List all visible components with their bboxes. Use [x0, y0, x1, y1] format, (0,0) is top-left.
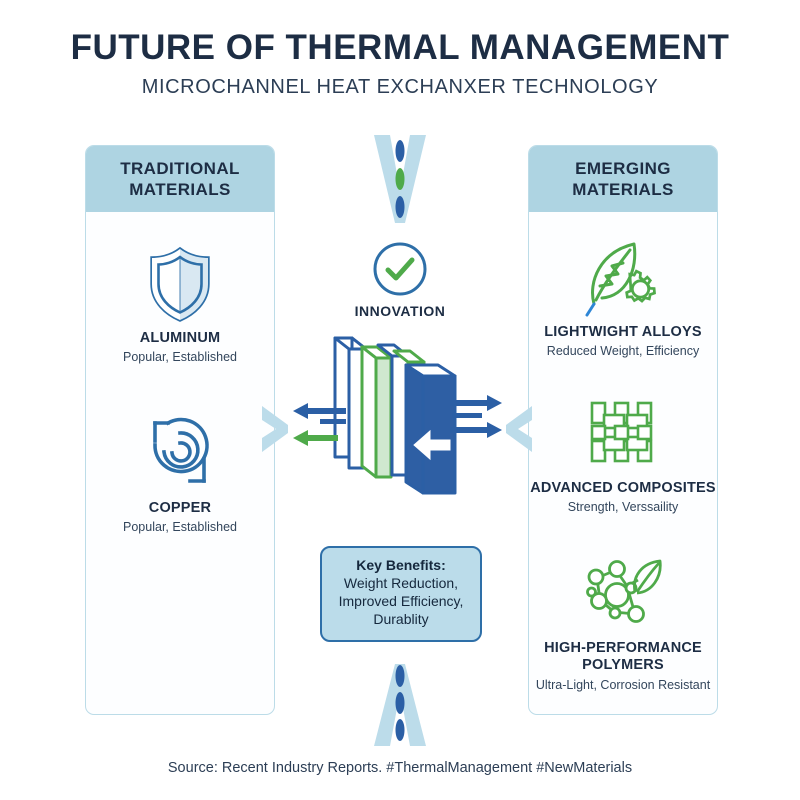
page-subtitle: MICROCHANNEL HEAT EXCHANXER TECHNOLOGY — [0, 76, 800, 99]
woven-composite-icon — [529, 392, 717, 476]
material-desc: Popular, Established — [86, 350, 274, 365]
molecule-leaf-icon — [529, 552, 717, 636]
material-desc: Reduced Weight, Efficiency — [529, 344, 717, 359]
key-benefits-line-2: Improved Efficiency, — [339, 593, 464, 609]
infographic-canvas: FUTURE OF THERMAL MANAGEMENT MICROCHANNE… — [0, 0, 800, 800]
traditional-materials-panel: TRADITIONAL MATERIALS — [85, 145, 275, 715]
key-benefits-line-3: Durablity — [373, 611, 428, 627]
bottom-chevron-decoration — [372, 662, 428, 753]
top-chevron-decoration — [372, 133, 428, 230]
coil-spiral-icon — [86, 412, 274, 496]
material-name-line-2: POLYMERS — [582, 657, 664, 673]
emerging-materials-body: LIGHTWIGHT ALLOYS Reduced Weight, Effici… — [529, 212, 717, 715]
material-desc: Strength, Verssaility — [529, 500, 717, 515]
material-item-advanced-composites[interactable]: ADVANCED COMPOSITES Strength, Verssailit… — [529, 392, 717, 515]
material-name: LIGHTWIGHT ALLOYS — [529, 324, 717, 341]
material-item-lightweight-alloys[interactable]: LIGHTWIGHT ALLOYS Reduced Weight, Effici… — [529, 236, 717, 359]
heading-line-2: MATERIALS — [129, 180, 231, 199]
key-benefits-line-1: Weight Reduction, — [344, 575, 458, 591]
material-name: HIGH-PERFORMANCE POLYMERS — [529, 640, 717, 675]
material-item-copper[interactable]: COPPER Popular, Established — [86, 412, 274, 535]
heading-line-1: EMERGING — [575, 159, 671, 178]
emerging-materials-heading: EMERGING MATERIALS — [529, 146, 717, 212]
circle-check-icon — [371, 240, 429, 303]
innovation-label: INNOVATION — [300, 303, 500, 319]
material-name: COPPER — [86, 500, 274, 517]
key-benefits-title: Key Benefits: — [328, 557, 474, 575]
leaf-gear-icon — [529, 236, 717, 320]
material-desc: Ultra-Light, Corrosion Resistant — [529, 678, 717, 693]
page-title: FUTURE OF THERMAL MANAGEMENT — [0, 30, 800, 67]
material-desc: Popular, Established — [86, 520, 274, 535]
shield-icon — [86, 242, 274, 326]
material-item-high-performance-polymers[interactable]: HIGH-PERFORMANCE POLYMERS Ultra-Light, C… — [529, 552, 717, 693]
traditional-materials-heading: TRADITIONAL MATERIALS — [86, 146, 274, 212]
left-inward-chevron-icon — [258, 400, 292, 463]
right-inward-chevron-icon — [502, 400, 536, 463]
heading-line-2: MATERIALS — [572, 180, 674, 199]
emerging-materials-panel: EMERGING MATERIALS — [528, 145, 718, 715]
heading-line-1: TRADITIONAL — [120, 159, 240, 178]
traditional-materials-body: ALUMINUM Popular, Established — [86, 212, 274, 715]
source-footer: Source: Recent Industry Reports. #Therma… — [0, 760, 800, 776]
material-name: ALUMINUM — [86, 330, 274, 347]
material-item-aluminum[interactable]: ALUMINUM Popular, Established — [86, 242, 274, 365]
plate-heat-exchanger-stack-icon — [280, 335, 530, 500]
key-benefits-box: Key Benefits: Weight Reduction, Improved… — [320, 546, 482, 642]
material-name-line-1: HIGH-PERFORMANCE — [544, 640, 702, 656]
material-name: ADVANCED COMPOSITES — [529, 480, 717, 497]
